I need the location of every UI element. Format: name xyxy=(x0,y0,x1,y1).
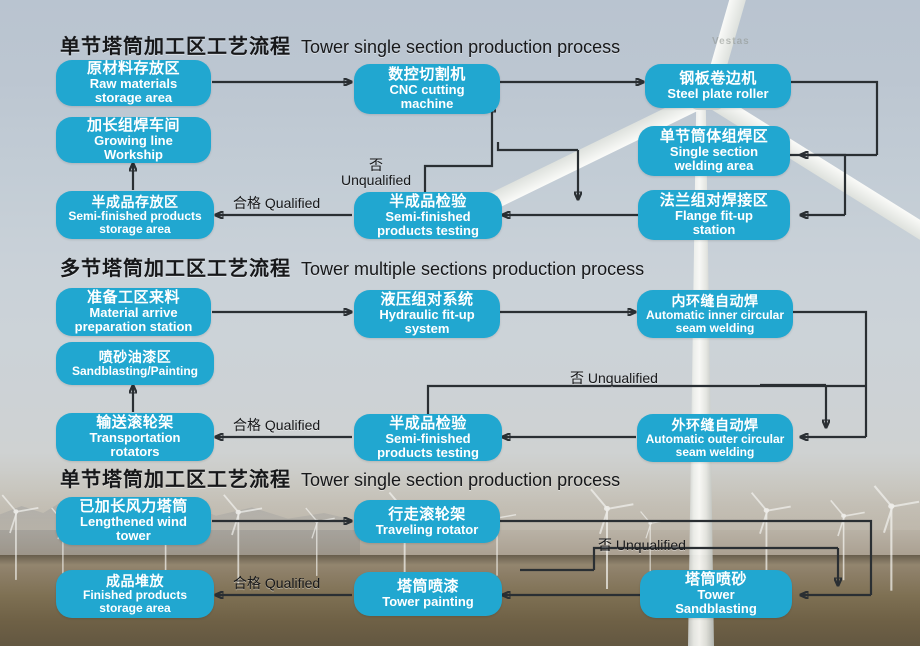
node-label-cn: 塔筒喷砂 xyxy=(685,572,747,588)
node-traveling-rotator[interactable]: 行走滚轮架 Traveling rotator xyxy=(354,500,500,543)
node-tower-painting[interactable]: 塔筒喷漆 Tower painting xyxy=(354,572,502,616)
node-label-cn: 钢板卷边机 xyxy=(679,71,757,87)
edge-label-qualified-2: 合格 Qualified xyxy=(233,418,320,433)
node-label-cn: 数控切割机 xyxy=(388,67,466,83)
node-steel-plate-roller[interactable]: 钢板卷边机 Steel plate roller xyxy=(645,64,791,108)
edge-label-cn: 合格 xyxy=(233,575,261,591)
node-label-en: Steel plate roller xyxy=(667,87,768,101)
node-label-en: Material arrivepreparation station xyxy=(75,306,193,333)
section-title-2: 多节塔筒加工区工艺流程Tower multiple sections produ… xyxy=(60,252,644,281)
node-inner-seam-welding[interactable]: 内环缝自动焊 Automatic inner circularseam weld… xyxy=(637,290,793,338)
node-semi-finished-storage[interactable]: 半成品存放区 Semi-finished productsstorage are… xyxy=(56,191,214,239)
node-material-arrive-station[interactable]: 准备工区来料 Material arrivepreparation statio… xyxy=(56,288,211,336)
node-label-en: Automatic outer circularseam welding xyxy=(646,433,785,458)
edge-label-en: Unqualified xyxy=(328,173,424,188)
node-label-en: Sandblasting/Painting xyxy=(72,365,198,378)
node-label-en: TowerSandblasting xyxy=(675,588,757,615)
node-label-cn: 法兰组对焊接区 xyxy=(660,193,769,209)
node-label-en: Tower painting xyxy=(382,595,473,609)
flowchart-stage: Vestas xyxy=(0,0,920,646)
node-label-en: Finished productsstorage area xyxy=(83,589,187,614)
node-label-cn: 输送滚轮架 xyxy=(96,415,174,431)
node-lengthened-wind-tower[interactable]: 已加长风力塔筒 Lengthened windtower xyxy=(56,497,211,545)
node-label-en: Semi-finishedproducts testing xyxy=(377,210,479,237)
node-outer-seam-welding[interactable]: 外环缝自动焊 Automatic outer circularseam weld… xyxy=(637,414,793,462)
node-label-cn: 行走滚轮架 xyxy=(388,507,466,523)
node-hydraulic-fitup-system[interactable]: 液压组对系统 Hydraulic fit-upsystem xyxy=(354,290,500,338)
vestas-brand-mark: Vestas xyxy=(712,36,768,47)
node-label-cn: 半成品检验 xyxy=(389,194,467,210)
node-label-cn: 外环缝自动焊 xyxy=(672,418,759,433)
node-label-en: Traveling rotator xyxy=(376,523,479,537)
node-raw-materials[interactable]: 原材料存放区 Raw materialsstorage area xyxy=(56,60,211,106)
node-label-en: CNC cuttingmachine xyxy=(389,83,464,110)
node-finished-products-storage[interactable]: 成品堆放 Finished productsstorage area xyxy=(56,570,214,618)
node-sandblasting-painting[interactable]: 喷砂油漆区 Sandblasting/Painting xyxy=(56,342,214,385)
node-growing-line[interactable]: 加长组焊车间 Growing lineWorkship xyxy=(56,117,211,163)
edge-label-en: Qualified xyxy=(265,575,320,591)
node-label-en: Transportationrotators xyxy=(89,431,180,458)
node-cnc-cutting-machine[interactable]: 数控切割机 CNC cuttingmachine xyxy=(354,64,500,114)
node-label-cn: 塔筒喷漆 xyxy=(397,579,459,595)
node-label-cn: 成品堆放 xyxy=(106,574,164,589)
node-label-cn: 单节筒体组焊区 xyxy=(660,129,769,145)
node-label-en: Flange fit-upstation xyxy=(675,209,753,236)
node-label-en: Raw materialsstorage area xyxy=(90,77,177,104)
section-title-en: Tower single section production process xyxy=(301,470,620,490)
edge-label-en: Qualified xyxy=(265,195,320,211)
edge-label-unqualified-2: 否 Unqualified xyxy=(570,371,658,386)
node-label-cn: 喷砂油漆区 xyxy=(99,350,172,365)
edge-label-cn: 否 xyxy=(328,158,424,173)
edge-label-en: Unqualified xyxy=(616,537,686,553)
node-label-en: Semi-finished productsstorage area xyxy=(68,210,201,235)
node-flange-fitup-station[interactable]: 法兰组对焊接区 Flange fit-upstation xyxy=(638,190,790,240)
node-semi-finished-testing-2[interactable]: 半成品检验 Semi-finishedproducts testing xyxy=(354,414,502,461)
edge-label-en: Qualified xyxy=(265,417,320,433)
section-title-en: Tower multiple sections production proce… xyxy=(301,259,644,279)
node-label-en: Semi-finishedproducts testing xyxy=(377,432,479,459)
node-transportation-rotators[interactable]: 输送滚轮架 Transportationrotators xyxy=(56,413,214,461)
edge-label-cn: 否 xyxy=(598,537,612,553)
edge-label-unqualified-1: 否 Unqualified xyxy=(328,158,424,187)
node-label-cn: 原材料存放区 xyxy=(87,61,180,77)
node-label-cn: 半成品存放区 xyxy=(92,195,179,210)
node-label-en: Lengthened windtower xyxy=(80,515,187,542)
edge-label-qualified-3: 合格 Qualified xyxy=(233,576,320,591)
edge-label-en: Unqualified xyxy=(588,370,658,386)
edge-label-qualified-1: 合格 Qualified xyxy=(233,196,320,211)
edge-label-cn: 合格 xyxy=(233,195,261,211)
node-semi-finished-testing-1[interactable]: 半成品检验 Semi-finishedproducts testing xyxy=(354,192,502,239)
node-label-cn: 已加长风力塔筒 xyxy=(79,499,188,515)
node-label-en: Automatic inner circularseam welding xyxy=(646,309,784,334)
section-title-cn: 单节塔筒加工区工艺流程 xyxy=(60,36,291,58)
section-title-en: Tower single section production process xyxy=(301,37,620,57)
section-title-3: 单节塔筒加工区工艺流程Tower single section producti… xyxy=(60,463,620,492)
section-title-1: 单节塔筒加工区工艺流程Tower single section producti… xyxy=(60,30,620,59)
node-label-en: Single sectionwelding area xyxy=(670,145,758,172)
node-tower-sandblasting[interactable]: 塔筒喷砂 TowerSandblasting xyxy=(640,570,792,618)
node-label-cn: 准备工区来料 xyxy=(87,290,180,306)
node-label-en: Growing lineWorkship xyxy=(94,134,173,161)
section-title-cn: 多节塔筒加工区工艺流程 xyxy=(60,258,291,280)
node-label-en: Hydraulic fit-upsystem xyxy=(379,308,474,335)
node-label-cn: 内环缝自动焊 xyxy=(672,294,759,309)
node-label-cn: 半成品检验 xyxy=(389,416,467,432)
section-title-cn: 单节塔筒加工区工艺流程 xyxy=(60,469,291,491)
edge-label-cn: 否 xyxy=(570,370,584,386)
edge-label-unqualified-3: 否 Unqualified xyxy=(598,538,686,553)
node-single-section-welding[interactable]: 单节筒体组焊区 Single sectionwelding area xyxy=(638,126,790,176)
node-label-cn: 加长组焊车间 xyxy=(87,118,180,134)
edge-label-cn: 合格 xyxy=(233,417,261,433)
node-label-cn: 液压组对系统 xyxy=(380,292,473,308)
